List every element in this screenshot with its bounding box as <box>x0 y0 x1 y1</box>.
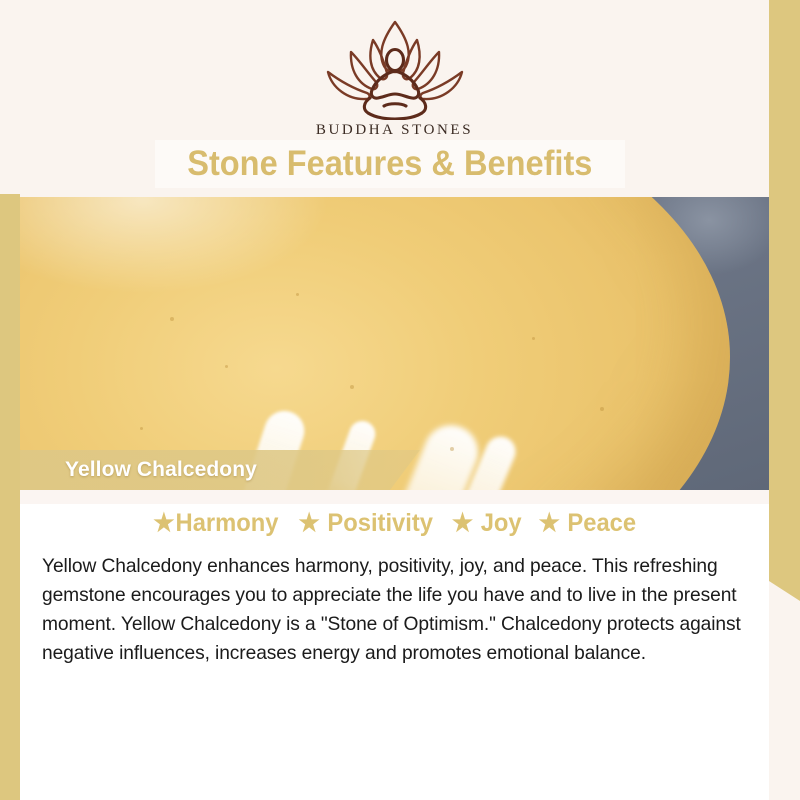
stone-speck <box>350 385 354 389</box>
bottom-white-gap <box>20 758 769 800</box>
keyword-list: ★Harmony★ Positivity★ Joy★ Peace <box>20 508 769 538</box>
stone-speck <box>600 407 604 411</box>
page-title: Stone Features & Benefits <box>187 144 592 184</box>
star-icon: ★ <box>299 509 320 537</box>
content-panel: ★Harmony★ Positivity★ Joy★ Peace Yellow … <box>20 490 769 758</box>
brand-name: BUDDHA STONES <box>20 122 769 139</box>
stone-name-text: Yellow Chalcedony <box>65 458 257 482</box>
star-icon: ★ <box>539 509 560 537</box>
brand-logo: BUDDHA STONES <box>20 16 769 139</box>
stone-speck <box>296 293 299 296</box>
star-icon: ★ <box>154 509 175 537</box>
title-banner: Stone Features & Benefits <box>155 140 625 188</box>
star-icon: ★ <box>451 509 472 537</box>
description-paragraph: Yellow Chalcedony enhances harmony, posi… <box>42 552 741 668</box>
keyword-label: Harmony <box>176 509 279 537</box>
keyword-label: Positivity <box>327 509 433 537</box>
keyword-item: ★ Positivity <box>299 508 433 538</box>
stone-speck <box>140 427 143 430</box>
stone-name-label: Yellow Chalcedony <box>20 450 420 490</box>
yellow-chalcedony-stone <box>20 197 730 490</box>
content-top-strip <box>20 490 769 504</box>
keyword-label: Joy <box>480 509 521 537</box>
left-edge-cream-fill <box>0 0 20 194</box>
stone-speck <box>532 337 535 340</box>
stone-speck <box>170 317 174 321</box>
keyword-item: ★Harmony <box>154 508 279 538</box>
keyword-label: Peace <box>567 509 636 537</box>
lotus-meditation-icon <box>310 16 480 120</box>
stone-photo <box>20 197 769 490</box>
gold-right-strip-decoration <box>769 36 800 601</box>
gold-left-strip-decoration <box>0 194 20 758</box>
keyword-item: ★ Peace <box>539 508 637 538</box>
stone-speck <box>225 365 228 368</box>
keyword-item: ★ Joy <box>451 508 521 538</box>
poster-card: BUDDHA STONES Stone Features & Benefits … <box>0 0 800 800</box>
stone-speck <box>450 447 454 451</box>
